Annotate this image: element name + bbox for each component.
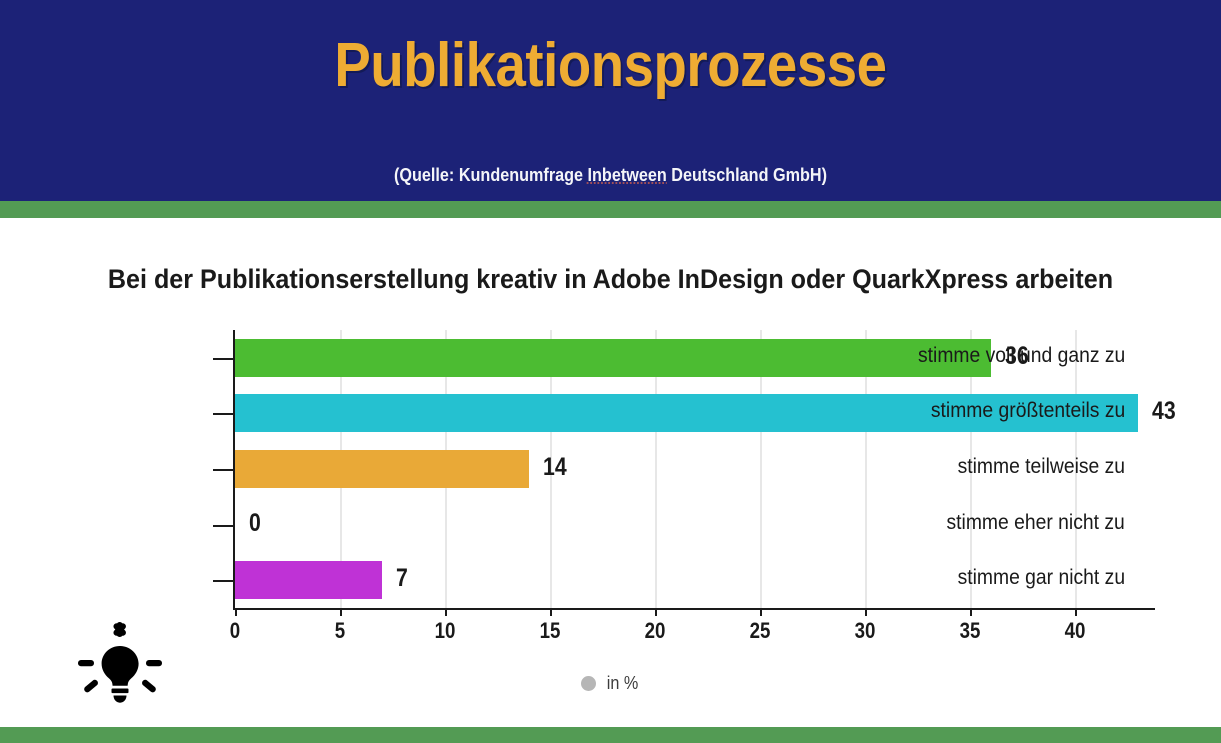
x-tick-label-15: 15 bbox=[525, 618, 576, 644]
footer-band bbox=[0, 727, 1221, 743]
y-tick-0 bbox=[213, 358, 233, 360]
category-label-2: stimme teilweise zu bbox=[958, 455, 1125, 479]
bar-4[interactable] bbox=[235, 561, 382, 599]
category-label-0: stimme voll und ganz zu bbox=[918, 344, 1125, 368]
x-tick-20 bbox=[655, 608, 657, 616]
chart-container: Bei der Publikationserstellung kreativ i… bbox=[0, 218, 1221, 727]
page-title: Publikationsprozesse bbox=[73, 29, 1147, 102]
x-tick-label-10: 10 bbox=[420, 618, 471, 644]
x-tick-5 bbox=[340, 608, 342, 616]
y-tick-3 bbox=[213, 525, 233, 527]
bar-value-label-2: 14 bbox=[543, 453, 567, 482]
bar-value-label-1: 43 bbox=[1152, 397, 1176, 426]
chart-legend: in % bbox=[0, 673, 1221, 694]
subtitle-prefix: (Quelle: Kundenumfrage bbox=[394, 165, 588, 185]
x-tick-label-35: 35 bbox=[945, 618, 996, 644]
bar-0[interactable] bbox=[235, 339, 991, 377]
category-label-4: stimme gar nicht zu bbox=[958, 566, 1125, 590]
x-tick-label-40: 40 bbox=[1050, 618, 1101, 644]
subtitle-company-name: Inbetween bbox=[588, 165, 667, 185]
y-tick-1 bbox=[213, 413, 233, 415]
x-tick-40 bbox=[1075, 608, 1077, 616]
x-tick-10 bbox=[445, 608, 447, 616]
x-axis-line bbox=[233, 608, 1155, 610]
x-tick-label-30: 30 bbox=[840, 618, 891, 644]
x-tick-label-25: 25 bbox=[735, 618, 786, 644]
x-tick-25 bbox=[760, 608, 762, 616]
bar-value-label-4: 7 bbox=[396, 564, 408, 593]
x-tick-label-20: 20 bbox=[630, 618, 681, 644]
bar-2[interactable] bbox=[235, 450, 529, 488]
lightbulb-icon bbox=[72, 620, 168, 704]
page-header: Publikationsprozesse (Quelle: Kundenumfr… bbox=[0, 0, 1221, 201]
category-label-3: stimme eher nicht zu bbox=[947, 511, 1125, 535]
y-tick-4 bbox=[213, 580, 233, 582]
legend-label-in-percent: in % bbox=[607, 673, 639, 694]
x-tick-0 bbox=[235, 608, 237, 616]
x-tick-30 bbox=[865, 608, 867, 616]
legend-marker-in-percent bbox=[581, 676, 596, 691]
page-subtitle: (Quelle: Kundenumfrage Inbetween Deutsch… bbox=[61, 165, 1160, 186]
x-tick-15 bbox=[550, 608, 552, 616]
bar-value-label-3: 0 bbox=[249, 509, 261, 538]
chart-title: Bei der Publikationserstellung kreativ i… bbox=[43, 264, 1179, 295]
x-tick-35 bbox=[970, 608, 972, 616]
header-divider-band bbox=[0, 201, 1221, 218]
x-tick-label-5: 5 bbox=[315, 618, 366, 644]
category-label-1: stimme größtenteils zu bbox=[931, 399, 1125, 423]
plot-area: 051015202530354036stimme voll und ganz z… bbox=[235, 330, 1155, 608]
y-tick-2 bbox=[213, 469, 233, 471]
subtitle-suffix: Deutschland GmbH) bbox=[667, 165, 827, 185]
x-tick-label-0: 0 bbox=[210, 618, 261, 644]
